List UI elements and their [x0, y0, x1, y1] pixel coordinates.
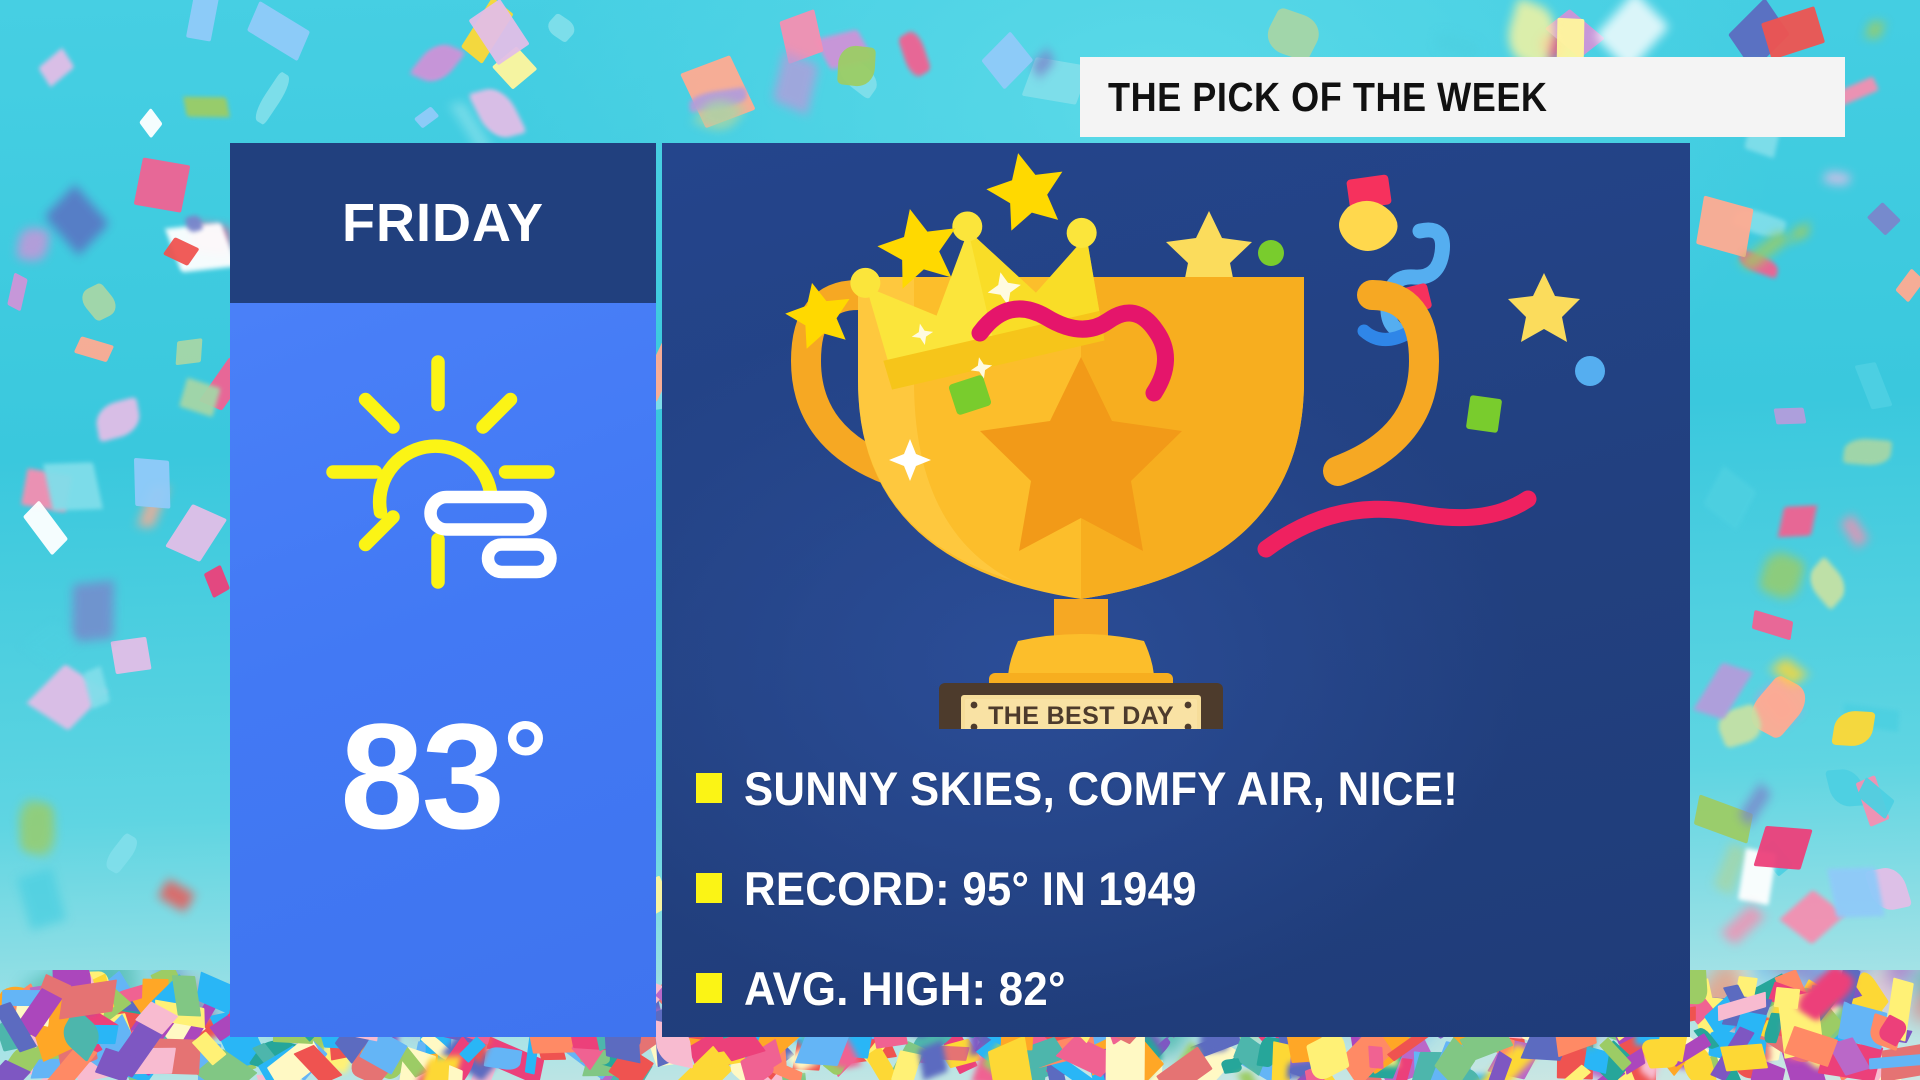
- list-item: AVG. HIGH: 82°: [696, 961, 1670, 1016]
- confetti-piece: [72, 580, 113, 642]
- streamer-blue-2: [1364, 331, 1408, 340]
- confetti-piece: [1368, 1045, 1384, 1068]
- weather-icon-wrap: [230, 347, 656, 597]
- temperature-value: 83°: [230, 701, 656, 851]
- confetti-piece: [1774, 987, 1800, 1009]
- bullet-square-icon: [696, 973, 722, 1003]
- details-bullet-list: SUNNY SKIES, COMFY AIR, NICE! RECORD: 95…: [696, 761, 1670, 1016]
- confetti-piece: [134, 458, 170, 509]
- confetti-piece: [18, 797, 56, 859]
- day-forecast-panel: FRIDAY 83°: [230, 143, 656, 1037]
- confetti-piece: [176, 338, 203, 365]
- day-body: 83°: [230, 303, 656, 1037]
- degree-symbol: °: [503, 698, 546, 823]
- confetti-piece: [183, 97, 229, 117]
- confetti-piece: [1827, 867, 1884, 918]
- bullet-square-icon: [696, 873, 722, 903]
- confetti-piece: [111, 637, 152, 674]
- confetti-green-1: [1466, 395, 1502, 433]
- list-item: RECORD: 95° IN 1949: [696, 861, 1670, 916]
- temperature-number: 83: [340, 692, 503, 860]
- bullet-text: AVG. HIGH: 82°: [744, 961, 1066, 1016]
- haze-bar-small: [488, 545, 551, 573]
- hazy-sun-icon: [318, 347, 568, 597]
- confetti-piece: [1720, 1044, 1768, 1071]
- confetti-piece: [1778, 505, 1818, 537]
- day-header: FRIDAY: [230, 143, 656, 303]
- confetti-blue-dot: [1575, 356, 1605, 386]
- header-title: THE PICK OF THE WEEK: [1108, 74, 1548, 121]
- trophy-graphic: THE BEST DAY: [662, 149, 1690, 729]
- confetti-green-dot: [1258, 240, 1284, 266]
- crown-star-right: [980, 149, 1073, 234]
- bullet-text: SUNNY SKIES, COMFY AIR, NICE!: [744, 761, 1458, 816]
- star-confetti-2: [1508, 273, 1580, 342]
- details-panel: THE BEST DAY: [662, 143, 1690, 1037]
- header-banner: THE PICK OF THE WEEK: [1080, 57, 1845, 137]
- trophy-base: THE BEST DAY: [917, 599, 1247, 729]
- confetti-piece: [1773, 407, 1806, 424]
- confetti-yellow-blob: [1339, 201, 1398, 251]
- streamer-pink-2: [1266, 499, 1528, 549]
- bullet-square-icon: [696, 773, 722, 803]
- confetti-piece: [133, 158, 189, 213]
- haze-bar-large: [431, 497, 541, 530]
- bullet-text: RECORD: 95° IN 1949: [744, 861, 1197, 916]
- plaque-label: THE BEST DAY: [988, 702, 1174, 729]
- trophy-illustration: THE BEST DAY: [662, 149, 1690, 729]
- confetti-piece: [43, 462, 103, 511]
- day-label: FRIDAY: [342, 192, 544, 254]
- list-item: SUNNY SKIES, COMFY AIR, NICE!: [696, 761, 1670, 816]
